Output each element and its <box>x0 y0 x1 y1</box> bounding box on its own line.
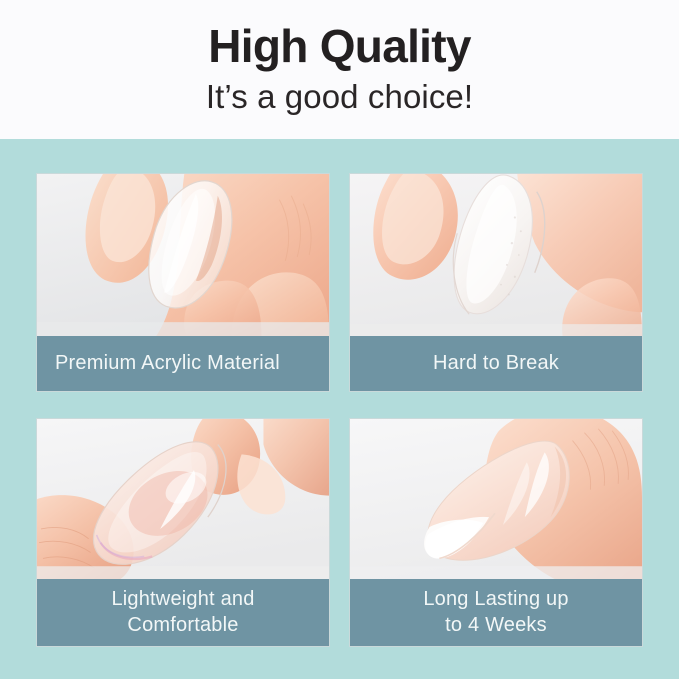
header: High Quality It’s a good choice! <box>0 0 679 139</box>
feature-photo-premium-acrylic-material <box>37 174 329 336</box>
nail-tip-on-finger-illustration <box>37 174 329 336</box>
flexing-nail-tip-illustration <box>350 174 642 336</box>
feature-photo-long-lasting-up-to-4-weeks <box>350 419 642 579</box>
feature-card-lightweight-and-comfortable: Lightweight and Comfortable <box>36 418 330 647</box>
applying-clear-tip-illustration <box>37 419 329 579</box>
finished-almond-nail-illustration <box>350 419 642 579</box>
feature-photo-hard-to-break <box>350 174 642 336</box>
feature-card-hard-to-break: Hard to Break <box>349 173 643 392</box>
feature-card-long-lasting-up-to-4-weeks: Long Lasting up to 4 Weeks <box>349 418 643 647</box>
caption-text: Long Lasting up to 4 Weeks <box>423 587 568 638</box>
page-title: High Quality <box>208 22 471 70</box>
feature-caption-lightweight-and-comfortable: Lightweight and Comfortable <box>37 579 329 646</box>
feature-caption-premium-acrylic-material: Premium Acrylic Material <box>37 336 329 391</box>
feature-card-premium-acrylic-material: Premium Acrylic Material <box>36 173 330 392</box>
feature-caption-hard-to-break: Hard to Break <box>350 336 642 391</box>
feature-photo-lightweight-and-comfortable <box>37 419 329 579</box>
feature-board: Premium Acrylic Material <box>0 139 679 679</box>
feature-caption-long-lasting-up-to-4-weeks: Long Lasting up to 4 Weeks <box>350 579 642 646</box>
caption-text: Lightweight and Comfortable <box>111 587 254 638</box>
caption-text: Hard to Break <box>433 352 559 375</box>
feature-grid: Premium Acrylic Material <box>36 173 643 647</box>
product-feature-infographic: High Quality It’s a good choice! <box>0 0 679 679</box>
page-subtitle: It’s a good choice! <box>206 79 473 115</box>
caption-text: Premium Acrylic Material <box>55 352 280 375</box>
